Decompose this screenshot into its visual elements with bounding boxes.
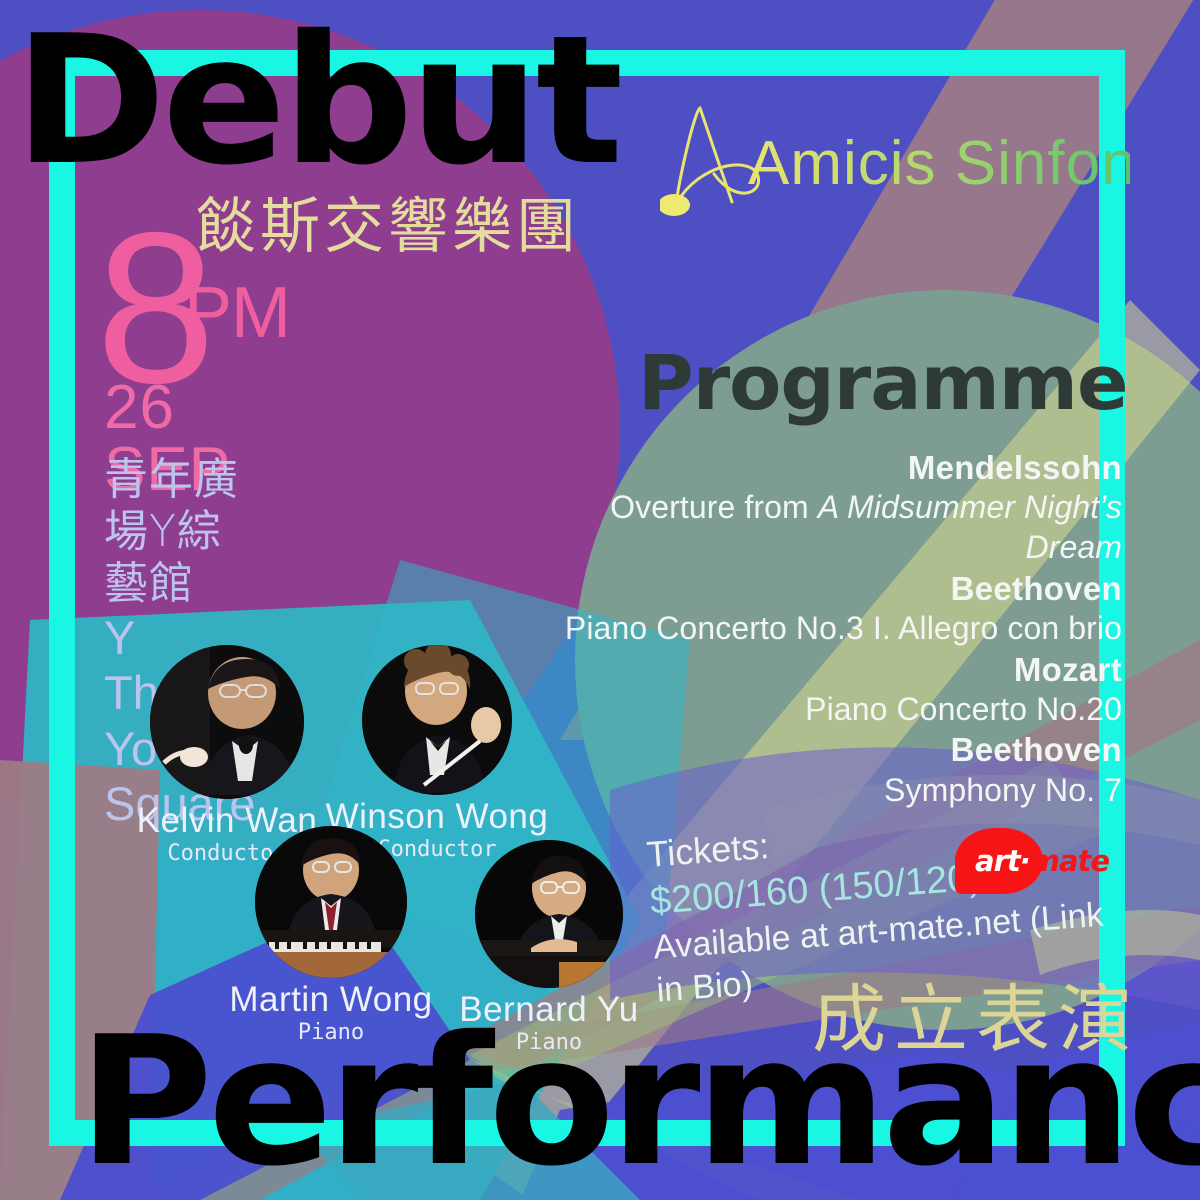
- art-mate-mate-text: mate: [1030, 844, 1109, 878]
- programme-item: Beethoven Symphony No. 7: [522, 730, 1122, 810]
- art-mate-logo[interactable]: art·mate: [955, 828, 1115, 900]
- piece-work-title: A Midsummer Night’s Dream: [818, 489, 1122, 565]
- pianist-portrait-icon: [255, 826, 407, 978]
- performer-photo: [475, 840, 623, 988]
- concert-poster: Debut 餤斯交響樂團 Amicis Sinfonia: [0, 0, 1200, 1200]
- art-mate-dot-icon: ·: [1020, 844, 1030, 878]
- performer-photo: [255, 826, 407, 978]
- composer-name: Mozart: [522, 650, 1122, 690]
- programme-title: Programme: [638, 338, 1128, 427]
- headline-debut: Debut: [14, 12, 619, 190]
- programme-item: Beethoven Piano Concerto No.3 I. Allegro…: [522, 569, 1122, 649]
- composer-name: Mendelssohn: [522, 448, 1122, 488]
- composer-name: Beethoven: [522, 730, 1122, 770]
- logo-wordmark: Amicis Sinfonia: [660, 100, 1130, 220]
- headline-performance: Performance: [78, 1013, 1200, 1191]
- orchestra-logo: Amicis Sinfonia: [660, 100, 1130, 220]
- logo-name-text: Amicis Sinfonia: [748, 129, 1130, 198]
- composer-name: Beethoven: [522, 569, 1122, 609]
- programme-item: Mendelssohn Overture from A Midsummer Ni…: [522, 448, 1122, 568]
- art-mate-wordmark: art·mate: [975, 844, 1109, 878]
- conductor-portrait-icon: [362, 645, 512, 795]
- conductor-portrait-icon: [150, 645, 304, 799]
- pianist-portrait-icon: [475, 840, 623, 988]
- programme-list: Mendelssohn Overture from A Midsummer Ni…: [522, 448, 1122, 811]
- piece-prefix: Overture from: [610, 489, 818, 525]
- piece-title: Piano Concerto No.3 I. Allegro con brio: [522, 609, 1122, 649]
- venue-chinese: 青年廣場Y綜藝館: [104, 454, 266, 610]
- piece-title: Overture from A Midsummer Night’s Dream: [522, 488, 1122, 567]
- performer-photo: [150, 645, 304, 799]
- piece-title: Piano Concerto No.20: [522, 690, 1122, 730]
- performer-photo: [362, 645, 512, 795]
- programme-item: Mozart Piano Concerto No.20: [522, 650, 1122, 730]
- event-meridiem: PM: [184, 277, 290, 349]
- orchestra-name-chinese: 餤斯交響樂團: [196, 178, 580, 265]
- art-mate-art-text: art: [975, 844, 1020, 878]
